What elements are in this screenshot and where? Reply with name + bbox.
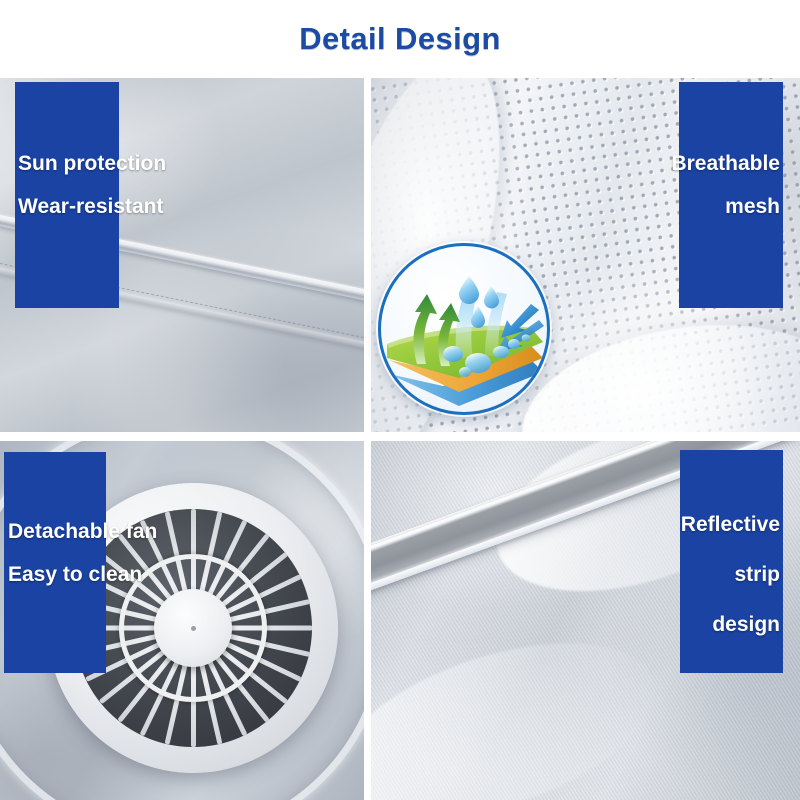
fan-center-hub — [154, 589, 233, 668]
label-bar-detachable-fan — [4, 452, 106, 673]
breathability-illustration — [381, 246, 547, 412]
fan-grille — [74, 509, 312, 747]
page-title-bar: Detail Design — [0, 0, 800, 78]
label-bar-breathable-mesh — [679, 82, 783, 308]
breathability-diagram-badge — [378, 243, 550, 415]
infographic-page: Detail Design — [0, 0, 800, 800]
label-bar-sun-protection — [15, 82, 119, 308]
label-bar-reflective-strip — [680, 450, 783, 673]
page-title: Detail Design — [299, 21, 501, 57]
fan-hub-screw-icon — [191, 626, 196, 631]
